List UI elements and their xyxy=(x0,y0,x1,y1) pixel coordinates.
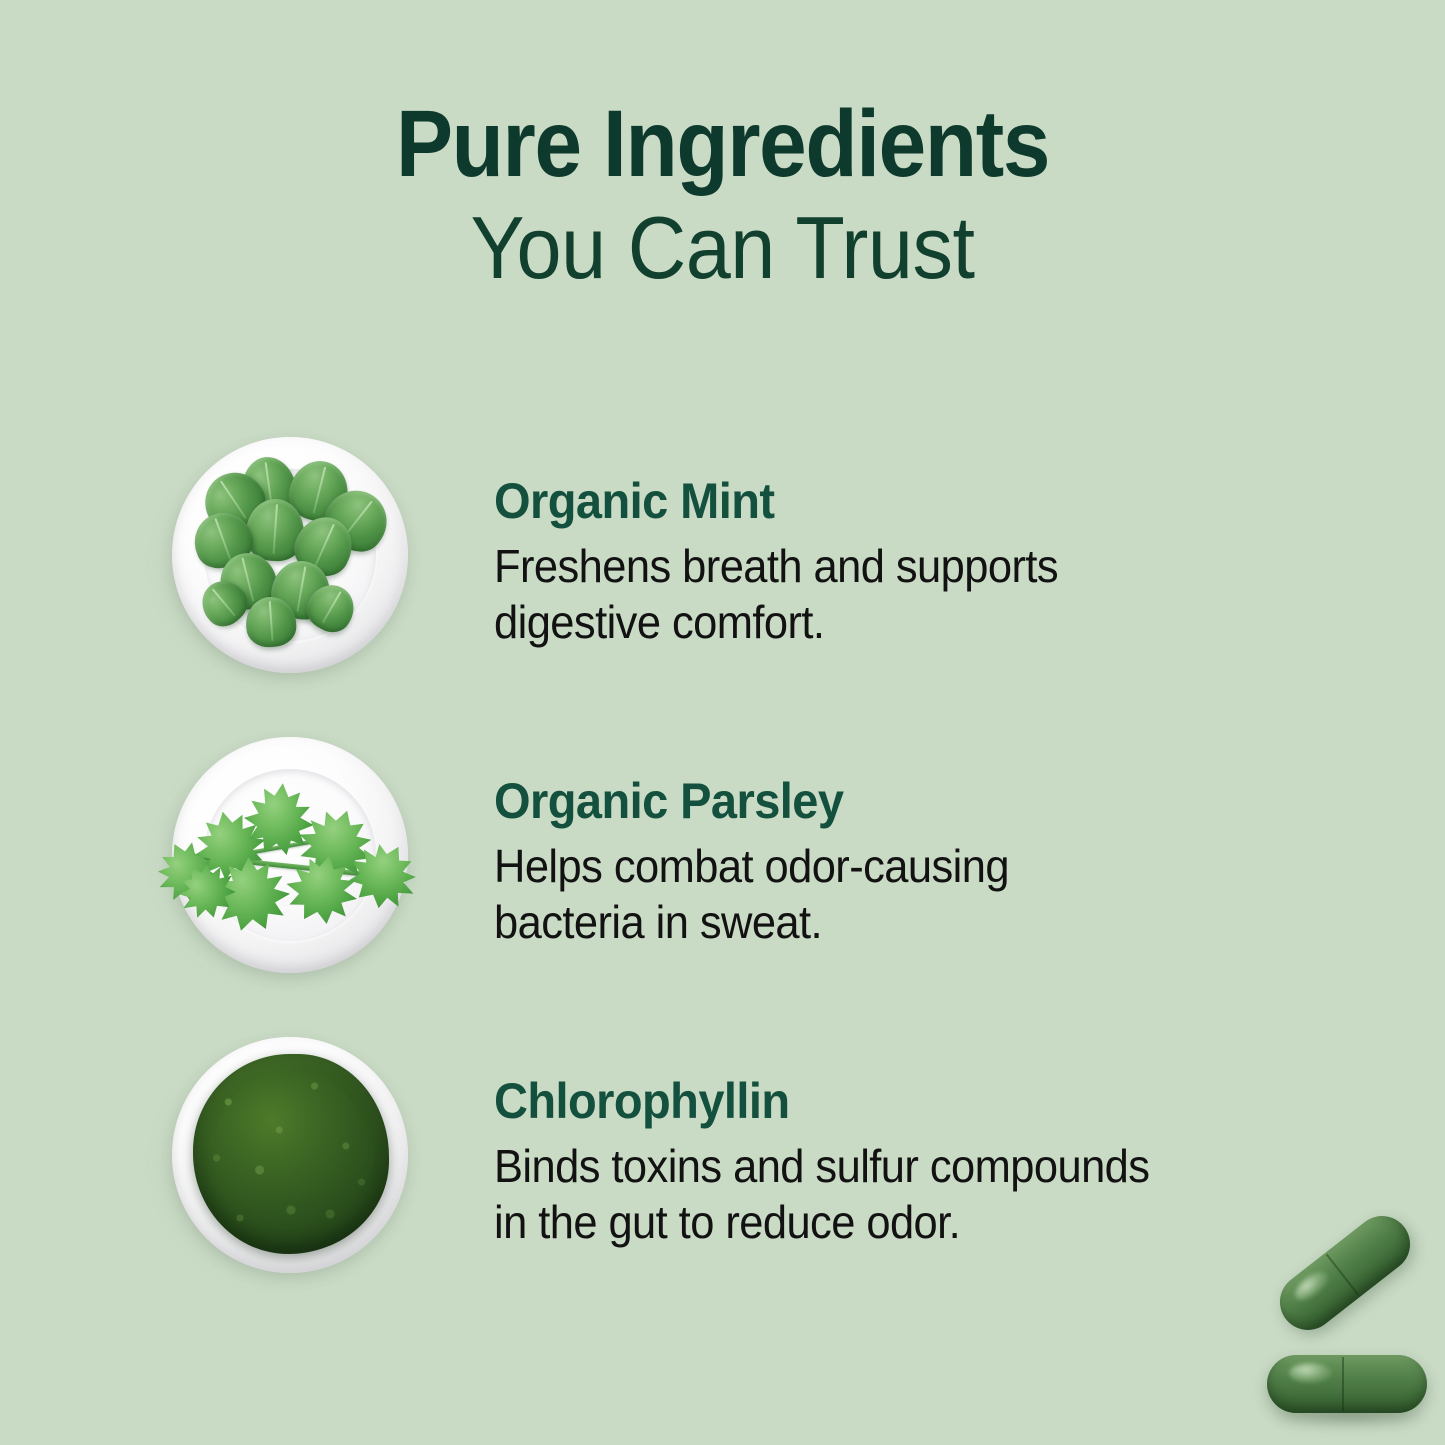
mint-plate-image xyxy=(172,437,408,673)
parsley-plate-image xyxy=(172,737,408,973)
chlorophyllin-plate-image xyxy=(172,1037,408,1273)
page-title-line1: Pure Ingredients xyxy=(72,96,1373,193)
ingredient-row: Organic Parsley Helps combat odor-causin… xyxy=(0,737,1445,987)
ingredient-description: Freshens breath and supports digestive c… xyxy=(494,538,1269,650)
ingredient-text-block: Organic Mint Freshens breath and support… xyxy=(494,475,1314,650)
ingredient-description: Binds toxins and sulfur compounds in the… xyxy=(494,1138,1269,1250)
ingredient-text-block: Chlorophyllin Binds toxins and sulfur co… xyxy=(494,1075,1314,1250)
infographic-canvas: Pure Ingredients You Can Trust xyxy=(0,0,1445,1445)
ingredient-title: Organic Mint xyxy=(494,475,1265,528)
capsule-icon-flat xyxy=(1267,1355,1427,1413)
ingredient-title: Organic Parsley xyxy=(494,775,1265,828)
green-powder-icon xyxy=(193,1054,389,1254)
ingredient-row: Chlorophyllin Binds toxins and sulfur co… xyxy=(0,1037,1445,1287)
ingredient-description: Helps combat odor-causing bacteria in sw… xyxy=(494,838,1269,950)
parsley-sprigs-icon xyxy=(152,759,432,949)
powder-texture xyxy=(193,1054,389,1254)
ingredient-text-block: Organic Parsley Helps combat odor-causin… xyxy=(494,775,1314,950)
page-title-line2: You Can Trust xyxy=(58,199,1387,298)
ingredient-title: Chlorophyllin xyxy=(494,1075,1265,1128)
page-heading: Pure Ingredients You Can Trust xyxy=(0,96,1445,297)
capsules-decoration xyxy=(1262,1243,1445,1445)
ingredient-row: Organic Mint Freshens breath and support… xyxy=(0,437,1445,687)
mint-leaves-icon xyxy=(190,457,390,653)
